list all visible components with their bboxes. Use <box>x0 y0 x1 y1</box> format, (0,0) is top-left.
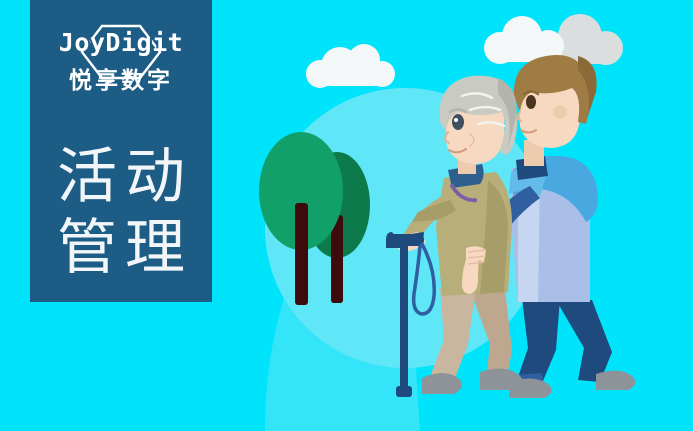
elder-eye <box>452 114 464 130</box>
brand-logo: JoyDigit 悦享数字 <box>30 30 212 93</box>
youth-eye <box>526 95 536 109</box>
poster-canvas: JoyDigit 悦享数字 活动 管理 <box>0 0 693 431</box>
elder-eye-glint <box>454 118 458 122</box>
cane-tip <box>396 386 412 397</box>
brand-panel: JoyDigit 悦享数字 活动 管理 <box>30 0 212 302</box>
youth-ear <box>553 105 567 119</box>
brand-wordmark: JoyDigit <box>57 30 185 55</box>
cane-grip <box>386 234 424 246</box>
page-title: 活动 管理 <box>30 142 212 284</box>
page-title-line-1: 活动 <box>30 142 212 213</box>
cane-shaft <box>400 242 408 394</box>
page-title-line-2: 管理 <box>30 213 212 284</box>
